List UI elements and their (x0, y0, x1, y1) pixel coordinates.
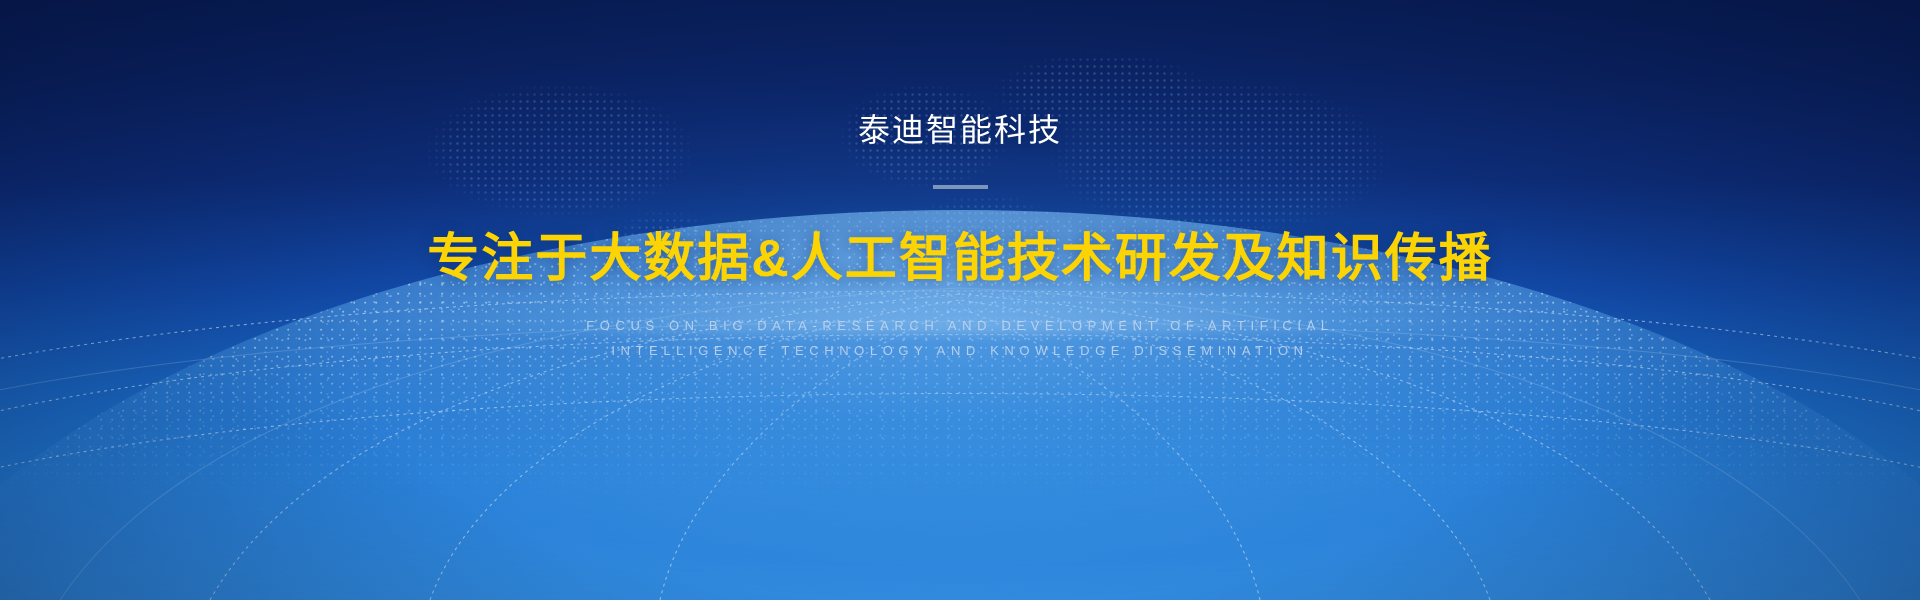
hero-banner: 泰迪智能科技 专注于大数据&人工智能技术研发及知识传播 FOCUS ON BIG… (0, 0, 1920, 600)
headline-text: 专注于大数据&人工智能技术研发及知识传播 (427, 229, 1493, 290)
brand-title: 泰迪智能科技 (858, 110, 1062, 150)
subtitle-block: FOCUS ON BIG DATA-RESEARCH AND DEVELOPME… (586, 316, 1334, 360)
subtitle-line-1: FOCUS ON BIG DATA-RESEARCH AND DEVELOPME… (586, 316, 1334, 336)
banner-content: 泰迪智能科技 专注于大数据&人工智能技术研发及知识传播 FOCUS ON BIG… (0, 0, 1920, 600)
subtitle-line-2: INTELLIGENCE TECHNOLOGY AND KNOWLEDGE DI… (586, 341, 1334, 361)
title-divider (933, 185, 988, 189)
